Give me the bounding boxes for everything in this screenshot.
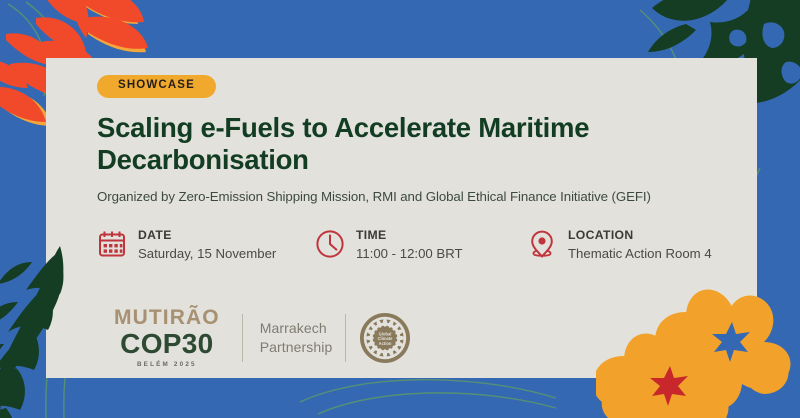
logo-divider-2 [345,314,346,362]
page-title: Scaling e-Fuels to Accelerate Maritime D… [97,112,697,177]
mp-line-2: Partnership [260,338,333,356]
status-badge: SHOWCASE [97,75,216,98]
detail-value: Thematic Action Room 4 [568,245,712,263]
mutirao-wordmark: MUTIRÃO [114,307,220,328]
gca-line-3: Action [379,341,392,346]
global-climate-action-emblem: Global Climate Action [359,312,411,364]
event-card: SHOWCASE Scaling e-Fuels to Accelerate M… [46,58,757,378]
clock-icon [315,229,345,259]
belem-year-label: BELÉM 2025 [114,362,220,368]
marrakech-partnership-logo: Marrakech Partnership [260,319,333,356]
detail-value: 11:00 - 12:00 BRT [356,245,463,263]
cop30-logo: MUTIRÃO COP30 BELÉM 2025 [114,307,220,369]
detail-label: TIME [356,228,463,243]
event-organizers: Organized by Zero-Emission Shipping Miss… [97,188,737,205]
mp-line-1: Marrakech [260,319,333,337]
event-details: DATE Saturday, 15 November TIME 11:0 [97,227,737,263]
calendar-icon [97,229,127,259]
detail-label: LOCATION [568,228,712,243]
event-banner: SHOWCASE Scaling e-Fuels to Accelerate M… [0,0,800,418]
detail-time: TIME 11:00 - 12:00 BRT [315,227,527,263]
detail-value: Saturday, 15 November [138,245,276,263]
footer-logos: MUTIRÃO COP30 BELÉM 2025 Marrakech Partn… [114,307,411,369]
detail-date: DATE Saturday, 15 November [97,227,315,263]
detail-label: DATE [138,228,276,243]
location-pin-icon [527,229,557,259]
logo-divider-1 [242,314,243,362]
detail-location: LOCATION Thematic Action Room 4 [527,227,712,263]
cop30-wordmark: COP30 [114,329,220,358]
